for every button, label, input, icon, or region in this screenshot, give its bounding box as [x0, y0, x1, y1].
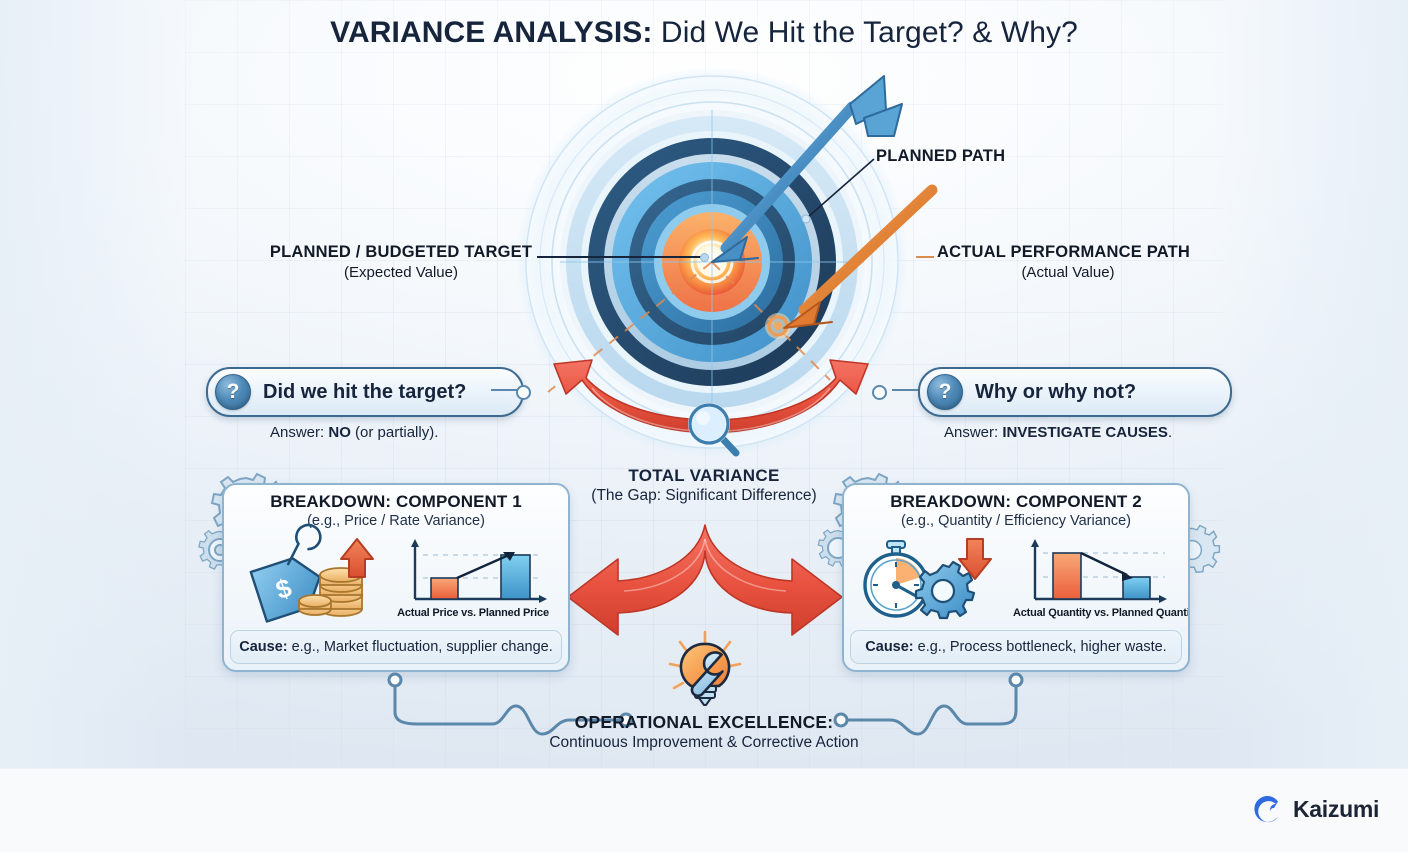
question-pill-left-label: Did we hit the target?: [263, 381, 466, 404]
callout-planned-target-title: PLANNED / BUDGETED TARGET: [266, 243, 536, 262]
operational-excellence-title: OPERATIONAL EXCELLENCE:: [404, 712, 1004, 733]
operational-excellence-label: OPERATIONAL EXCELLENCE: Continuous Impro…: [404, 712, 1004, 752]
question-pill-did-we-hit-target[interactable]: ? Did we hit the target?: [206, 367, 524, 417]
total-variance-arrow: [530, 358, 890, 458]
breakdown-card-1-cause: Cause:e.g., Market fluctuation, supplier…: [230, 630, 562, 664]
lightbulb-wrench-icon: [658, 630, 758, 716]
leader-dot-planned-target: [700, 253, 709, 262]
answer-right-suffix: .: [1168, 424, 1172, 441]
answer-right: Answer: INVESTIGATE CAUSES.: [944, 424, 1172, 441]
price-tag-coins-icon: $: [239, 533, 389, 619]
breakdown-card-1-head: BREAKDOWN: COMPONENT 1 (e.g., Price / Ra…: [224, 485, 568, 529]
question-pill-why-or-why-not[interactable]: ? Why or why not?: [918, 367, 1232, 417]
page-title-bold: VARIANCE ANALYSIS:: [330, 16, 652, 49]
answer-right-value: INVESTIGATE CAUSES: [1002, 424, 1168, 441]
connector-line-left-pill: [491, 389, 517, 391]
answer-right-prefix: Answer:: [944, 424, 1002, 441]
kaizumi-spiral-icon: [1252, 793, 1284, 825]
leader-line-planned-target: [537, 256, 707, 258]
breakdown-card-2-head: BREAKDOWN: COMPONENT 2 (e.g., Quantity /…: [844, 485, 1188, 529]
breakdown-card-2-cause-text: e.g., Process bottleneck, higher waste.: [918, 639, 1167, 655]
connector-node-right-pill: [872, 385, 887, 400]
callout-planned-path-title: PLANNED PATH: [876, 147, 1005, 166]
stopwatch-gear-icon: [859, 533, 1009, 619]
mini-chart-price: Actual Price vs. Planned Price: [393, 537, 553, 619]
breakdown-card-1-cause-label: Cause:: [239, 639, 287, 655]
operational-excellence-sub: Continuous Improvement & Corrective Acti…: [404, 734, 1004, 752]
breakdown-card-component-2[interactable]: BREAKDOWN: COMPONENT 2 (e.g., Quantity /…: [842, 483, 1190, 672]
kaizumi-logo[interactable]: Kaizumi: [1252, 793, 1379, 825]
mini-chart-quantity: Actual Quantity vs. Planned Quantity: [1013, 537, 1173, 619]
leader-line-planned-path: [790, 150, 890, 260]
mini-chart-quantity-caption: Actual Quantity vs. Planned Quantity: [1013, 607, 1173, 619]
callout-planned-target-sub: (Expected Value): [266, 264, 536, 281]
callout-planned-path: PLANNED PATH: [876, 147, 1005, 166]
callout-actual-path-sub: (Actual Value): [937, 264, 1199, 281]
infographic-canvas: VARIANCE ANALYSIS: Did We Hit the Target…: [0, 0, 1408, 851]
question-pill-right-label: Why or why not?: [975, 381, 1136, 404]
footer-bar: [0, 768, 1408, 852]
callout-planned-target: PLANNED / BUDGETED TARGET (Expected Valu…: [266, 243, 536, 281]
callout-actual-path: ACTUAL PERFORMANCE PATH (Actual Value): [937, 243, 1199, 281]
breakdown-card-1-body: $: [224, 529, 568, 619]
question-mark-icon: ?: [215, 374, 251, 410]
breakdown-card-1-subtitle: (e.g., Price / Rate Variance): [224, 513, 568, 529]
kaizumi-logo-text: Kaizumi: [1293, 796, 1379, 823]
answer-left: Answer: NO (or partially).: [270, 424, 438, 441]
leader-line-actual-path: [916, 256, 934, 258]
breakdown-card-1-cause-text: e.g., Market fluctuation, supplier chang…: [292, 639, 553, 655]
page-title: VARIANCE ANALYSIS: Did We Hit the Target…: [0, 16, 1408, 50]
breakdown-card-component-1[interactable]: BREAKDOWN: COMPONENT 1 (e.g., Price / Ra…: [222, 483, 570, 672]
split-arrow-down: [560, 525, 850, 635]
mini-chart-quantity-svg: [1013, 537, 1173, 609]
answer-left-value: NO: [328, 424, 351, 441]
callout-actual-path-title: ACTUAL PERFORMANCE PATH: [937, 243, 1199, 262]
answer-left-prefix: Answer:: [270, 424, 328, 441]
breakdown-card-2-cause: Cause:e.g., Process bottleneck, higher w…: [850, 630, 1182, 664]
connector-node-left-pill: [516, 385, 531, 400]
breakdown-card-2-subtitle: (e.g., Quantity / Efficiency Variance): [844, 513, 1188, 529]
question-mark-icon: ?: [927, 374, 963, 410]
breakdown-card-2-cause-label: Cause:: [865, 639, 913, 655]
answer-left-suffix: (or partially).: [351, 424, 439, 441]
breakdown-card-2-body: Actual Quantity vs. Planned Quantity: [844, 529, 1188, 619]
magnifier-icon: [690, 405, 736, 453]
page-title-rest: Did We Hit the Target? & Why?: [653, 16, 1078, 49]
breakdown-card-2-title: BREAKDOWN: COMPONENT 2: [844, 492, 1188, 512]
mini-chart-price-svg: [393, 537, 553, 609]
mini-chart-price-caption: Actual Price vs. Planned Price: [393, 607, 553, 619]
connector-line-right-pill: [892, 389, 918, 391]
breakdown-card-1-title: BREAKDOWN: COMPONENT 1: [224, 492, 568, 512]
